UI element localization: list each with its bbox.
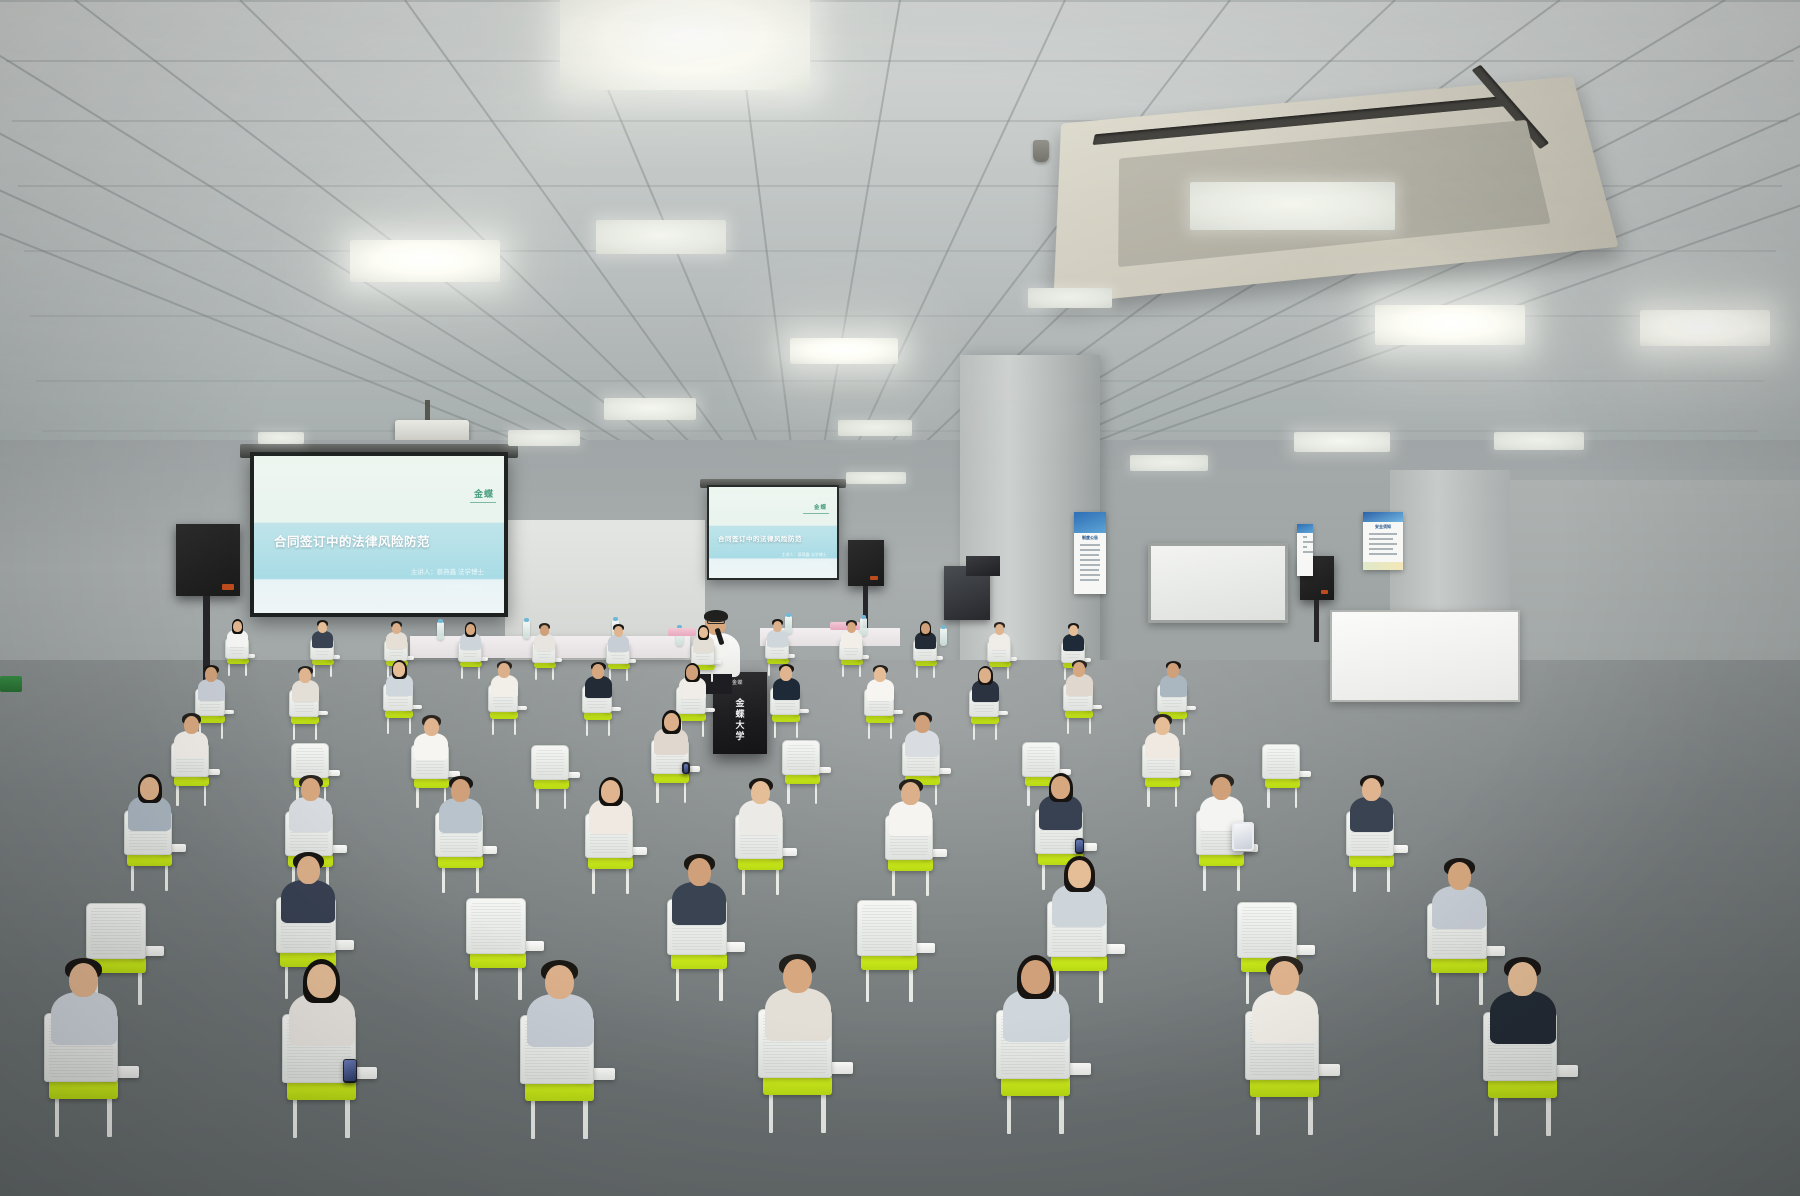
chair-leg [626, 868, 629, 894]
attendee-head [847, 622, 856, 633]
chair-leg [131, 865, 134, 891]
chair-leg [702, 721, 704, 737]
ceiling-light-panel [1294, 432, 1390, 452]
chair-seat [584, 712, 612, 720]
chair-seat [738, 857, 783, 870]
attendee-torso [1350, 797, 1393, 831]
presenter-glasses [707, 620, 725, 624]
attendee-head [540, 625, 549, 636]
attendee-torso [739, 800, 782, 834]
pa-speaker-far-right-stand [1314, 600, 1319, 642]
ceiling-light-panel [838, 420, 912, 436]
chair-seat [127, 853, 172, 866]
chair-leg [676, 968, 680, 1000]
chair-leg [866, 969, 870, 1001]
attendee-head [1448, 862, 1472, 890]
chair-leg [1479, 972, 1483, 1004]
tablet-device [1232, 822, 1254, 851]
chair-leg [842, 665, 843, 678]
projection-screen-1: 金蝶 合同签订中的法律风险防范 主讲人：蔡燕鑫 法学博士 2024年7月31日 [250, 452, 508, 617]
attendee-head [393, 662, 405, 676]
attendee-head [592, 664, 604, 678]
chair-leg [478, 667, 479, 680]
chair-seat [197, 715, 225, 723]
chair-leg [1089, 718, 1091, 734]
chair-back [782, 740, 820, 775]
ceiling-light-panel [1375, 305, 1525, 345]
slide-2-presenter-line: 主讲人：蔡燕鑫 法学博士 [782, 552, 827, 558]
water-bottle [860, 618, 867, 636]
chair-leg [1353, 866, 1356, 892]
attendee-head [751, 781, 770, 803]
chair-leg [165, 865, 168, 891]
chair-leg [868, 723, 870, 739]
attendee-head [901, 782, 920, 804]
attendee-torso [174, 731, 208, 758]
attendee-head [688, 858, 712, 886]
seminar-room-photo: 金蝶 合同签订中的法律风险防范 主讲人：蔡燕鑫 法学博士 2024年7月31日 … [0, 0, 1800, 1196]
chair-seat [174, 776, 209, 786]
chair-seat [861, 954, 917, 970]
attendee-head [601, 780, 620, 802]
attendee-torso [1160, 675, 1187, 697]
chair-leg [742, 869, 745, 895]
chair-leg [776, 869, 779, 895]
chair-seat [785, 774, 820, 784]
chair-leg [583, 1099, 588, 1139]
attendee-torso [527, 994, 593, 1047]
chair-leg [586, 720, 588, 736]
chair-leg [442, 867, 445, 893]
chair-seat [866, 715, 894, 723]
chair-back [1237, 902, 1297, 958]
chair-leg [461, 667, 462, 680]
chair-leg [107, 1097, 112, 1137]
display-panel [1330, 610, 1520, 702]
chair-seat [49, 1079, 118, 1099]
chair-seat [312, 659, 334, 665]
chair-leg [313, 665, 314, 678]
chair-leg [608, 720, 610, 736]
chair-leg [564, 789, 566, 809]
attendee-head [69, 963, 98, 997]
chair-back [531, 745, 569, 780]
chair-leg [1387, 866, 1390, 892]
chair-leg [821, 1093, 826, 1133]
chair-seat [1250, 1077, 1319, 1097]
chair-leg [1067, 718, 1069, 734]
chair-seat [414, 778, 449, 788]
attendee-head [318, 622, 327, 633]
chair-leg [768, 664, 769, 677]
attendee-torso [534, 634, 555, 651]
attendee-head [1270, 961, 1299, 995]
chair-leg [330, 665, 331, 678]
chair-back [1262, 744, 1300, 779]
chair-leg [552, 668, 553, 681]
chair-seat [989, 661, 1011, 667]
chair-leg [1295, 788, 1297, 808]
chair-leg [592, 868, 595, 894]
chair-leg [1175, 787, 1177, 807]
chair-leg [1064, 668, 1065, 681]
attendee-torso [989, 633, 1010, 650]
poster-wall-right-title: 安全须知 [1363, 524, 1403, 530]
chair-seat [291, 716, 319, 724]
chair-seat [1488, 1078, 1557, 1098]
chair-leg [916, 666, 917, 679]
ceiling-light-panel [596, 220, 726, 254]
chair-leg [285, 966, 289, 998]
attendee-head [979, 668, 991, 682]
water-bottle [437, 622, 444, 640]
ceiling-light-panel [1028, 288, 1112, 308]
chair-leg [1147, 787, 1149, 807]
chair-seat [654, 773, 689, 783]
ceiling-light-panel [604, 398, 696, 420]
chair-seat [1199, 853, 1244, 866]
chair-seat [1145, 777, 1180, 787]
chair-leg [1027, 786, 1029, 806]
chair-leg [245, 664, 246, 677]
chair-leg [55, 1097, 60, 1137]
chair-leg [859, 665, 860, 678]
exit-sign [0, 676, 22, 692]
attendee-head [545, 965, 574, 999]
attendee-head [1068, 860, 1092, 888]
chair-seat [841, 659, 863, 665]
chair-seat [525, 1081, 594, 1101]
chair-seat [1051, 955, 1107, 971]
slide-2: 金蝶 合同签订中的法律风险防范 主讲人：蔡燕鑫 法学博士 2024年7月31日 [709, 487, 837, 578]
attendee-torso [312, 631, 333, 648]
attendee-torso [672, 882, 726, 925]
chair-seat [888, 858, 933, 871]
slide-presenter-line: 主讲人：蔡燕鑫 法学博士 [411, 566, 484, 576]
jbl-logo-right [870, 576, 878, 580]
pa-speaker-left [176, 524, 240, 596]
chair-leg [228, 664, 229, 677]
chair-seat [588, 856, 633, 869]
chair-leg [1042, 864, 1045, 890]
attendee-torso [51, 992, 117, 1045]
chair-seat [678, 713, 706, 721]
chair-seat [287, 1080, 356, 1100]
chair-leg [933, 666, 934, 679]
chair-leg [514, 719, 516, 735]
attendee-head [874, 667, 886, 681]
chair-back [291, 743, 329, 778]
chair-leg [1099, 970, 1103, 1002]
attendee-torso [767, 630, 788, 647]
attendee-torso [608, 635, 629, 652]
attendee-torso [198, 679, 225, 701]
chair-back [857, 900, 917, 956]
chair-leg [973, 724, 975, 740]
chair-leg [711, 670, 712, 683]
chair-seat [915, 660, 937, 666]
chair-leg [1494, 1096, 1499, 1136]
jbl-logo-far [1321, 590, 1328, 594]
attendee-torso [765, 988, 831, 1041]
chair-leg [995, 724, 997, 740]
ceiling-light-panel [1494, 432, 1584, 450]
water-bottle [785, 616, 792, 634]
slide-2-date-line: 2024年7月31日 [803, 561, 826, 566]
attendee-head [301, 778, 320, 800]
attendee-head [1212, 777, 1231, 799]
attendee-torso [841, 631, 862, 648]
slide-date-line: 2024年7月31日 [446, 583, 484, 591]
chair-seat [1349, 854, 1394, 867]
chair-leg [909, 969, 913, 1001]
slide-logo-underline [470, 502, 496, 503]
chair-leg [293, 724, 295, 740]
attendee-torso [386, 632, 407, 649]
chair-leg [204, 786, 206, 806]
attendee-torso [292, 680, 319, 702]
attendee-torso [905, 730, 939, 757]
attendee-head [614, 626, 623, 637]
ceiling-light-panel [350, 240, 500, 282]
chair-leg [1546, 1096, 1551, 1136]
smartphone-screen [344, 1060, 356, 1081]
attendee-head [299, 668, 311, 682]
ceiling-light-panel [846, 472, 906, 484]
attendee-head [664, 713, 679, 731]
poster-header-band [1074, 512, 1106, 533]
attendee-torso [889, 801, 932, 835]
attendee-torso [1145, 732, 1179, 759]
chair-leg [416, 788, 418, 808]
attendee-torso [1063, 634, 1084, 651]
chair-leg [935, 785, 937, 805]
attendee-head [915, 715, 930, 733]
chair-leg [1267, 788, 1269, 808]
chair-leg [1183, 719, 1185, 735]
attendee-head [205, 667, 217, 681]
chair-seat [490, 711, 518, 719]
chair-leg [409, 718, 411, 734]
chair-leg [536, 789, 538, 809]
attendee-torso [1432, 886, 1486, 929]
chair-seat [534, 779, 569, 789]
attendee-head [1155, 717, 1170, 735]
chair-seat [763, 1075, 832, 1095]
slide-2-title: 合同签订中的法律风险防范 [718, 533, 802, 543]
chair-seat [671, 953, 727, 969]
attendee-head [783, 959, 812, 993]
attendee-torso [1252, 990, 1318, 1043]
attendee-head [307, 964, 336, 998]
attendee-torso [1490, 991, 1556, 1044]
chair-leg [719, 968, 723, 1000]
attendee-head [233, 621, 242, 632]
attendee-head [921, 623, 930, 634]
attendee-torso [867, 679, 894, 701]
smartphone-screen [684, 764, 688, 773]
sprinkler-head [1033, 140, 1049, 162]
chair-leg [387, 718, 389, 734]
smartphone [343, 1059, 358, 1083]
chair-leg [315, 724, 317, 740]
chair-seat [971, 716, 999, 724]
whiteboard [1148, 543, 1288, 623]
chair-back [466, 898, 526, 954]
attendee-head [184, 716, 199, 734]
chair-leg [769, 1093, 774, 1133]
attendee-head [1069, 625, 1078, 636]
chair-leg [684, 783, 686, 803]
attendee-torso [414, 733, 448, 760]
chair-seat [460, 661, 482, 667]
poster-wall-right: 安全须知 [1363, 512, 1403, 570]
chair-leg [774, 722, 776, 738]
attendee-head [498, 663, 510, 677]
ceiling-light-panel [560, 0, 810, 90]
chair-leg [176, 786, 178, 806]
projection-screen-2: 金蝶 合同签订中的法律风险防范 主讲人：蔡燕鑫 法学博士 2024年7月31日 [707, 485, 839, 580]
chair-leg [1007, 1094, 1012, 1134]
chair-seat [470, 952, 526, 968]
chair-leg [1059, 1094, 1064, 1134]
attendee-head [451, 779, 470, 801]
chair-leg [535, 668, 536, 681]
slide-1: 金蝶 合同签订中的法律风险防范 主讲人：蔡燕鑫 法学博士 2024年7月31日 [254, 456, 504, 613]
chair-leg [1203, 865, 1206, 891]
ceiling-light-panel [790, 338, 898, 364]
chair-leg [1256, 1095, 1261, 1135]
chair-seat [438, 855, 483, 868]
attendee-head [1508, 962, 1537, 996]
chair-seat [227, 658, 249, 664]
chair-leg [518, 967, 522, 999]
chair-leg [1308, 1095, 1313, 1135]
chair-leg [796, 722, 798, 738]
chair-leg [138, 972, 142, 1004]
chair-leg [492, 719, 494, 735]
attendee-torso [1066, 674, 1093, 696]
chair-seat [772, 714, 800, 722]
chair-leg [892, 870, 895, 896]
attendee-torso [289, 797, 332, 831]
tablet-screen [1234, 824, 1252, 849]
chair-leg [221, 723, 223, 739]
attendee-head [1167, 663, 1179, 677]
attendee-head [686, 665, 698, 679]
attendee-torso [773, 678, 800, 700]
chair-seat [534, 662, 556, 668]
attendee-head [1073, 662, 1085, 676]
ceiling-light-panel [508, 430, 580, 446]
attendee-head [773, 621, 782, 632]
water-bottle [940, 628, 947, 646]
chair-leg [475, 967, 479, 999]
slide-title: 合同签订中的法律风险防范 [274, 531, 430, 550]
ceiling-light-panel [258, 432, 304, 444]
attendee-head [1051, 776, 1070, 798]
slide-2-logo-underline [803, 513, 829, 514]
chair-seat [1001, 1076, 1070, 1096]
chair-leg [815, 784, 817, 804]
chair-leg [926, 870, 929, 896]
attendee-torso [439, 798, 482, 832]
attendee-head [392, 623, 401, 634]
chair-back [86, 903, 146, 959]
smartphone [1075, 838, 1084, 853]
attendee-head [466, 624, 475, 635]
chair-seat [1065, 710, 1093, 718]
jbl-logo [222, 584, 234, 590]
attendee-head [1362, 778, 1381, 800]
water-bottle [523, 621, 530, 639]
lectern-vertical-text: 金蝶大学 [734, 698, 747, 742]
chair-leg [1237, 865, 1240, 891]
chair-leg [787, 784, 789, 804]
chair-leg [345, 1098, 350, 1138]
chair-leg [1436, 972, 1440, 1004]
ceiling-light-panel [1640, 310, 1770, 346]
chair-seat [608, 663, 630, 669]
attendee-head [780, 666, 792, 680]
chair-leg [890, 723, 892, 739]
chair-leg [656, 783, 658, 803]
chair-seat [1265, 778, 1300, 788]
attendee-head [1021, 960, 1050, 994]
chair-leg [293, 1098, 298, 1138]
attendee-torso [491, 675, 518, 697]
poster-pillar-left: 制度公告 [1074, 512, 1106, 594]
attendee-torso [281, 880, 335, 923]
equipment-monitor [966, 556, 1000, 576]
attendee-head [140, 777, 159, 799]
chair-seat [1431, 957, 1487, 973]
slide-logo: 金蝶 [474, 487, 494, 500]
poster-pillar-small [1297, 524, 1313, 576]
attendee-head [297, 856, 321, 884]
smartphone-screen [1076, 840, 1082, 852]
chair-back [1022, 742, 1060, 777]
pa-speaker-right [848, 540, 884, 586]
chair-leg [626, 669, 627, 682]
ceiling-light-panel [1130, 455, 1208, 471]
chair-leg [1246, 971, 1250, 1003]
chair-seat [385, 710, 413, 718]
ceiling-light-panel [1190, 182, 1395, 230]
attendee-head [995, 624, 1004, 635]
attendee-head [424, 718, 439, 736]
chair-leg [531, 1099, 536, 1139]
attendee-head [699, 627, 708, 638]
chair-leg [1007, 667, 1008, 680]
poster-title: 制度公告 [1074, 535, 1106, 541]
smartphone [682, 762, 689, 774]
chair-leg [476, 867, 479, 893]
attendee-torso [585, 676, 612, 698]
slide-2-logo: 金蝶 [814, 503, 827, 511]
